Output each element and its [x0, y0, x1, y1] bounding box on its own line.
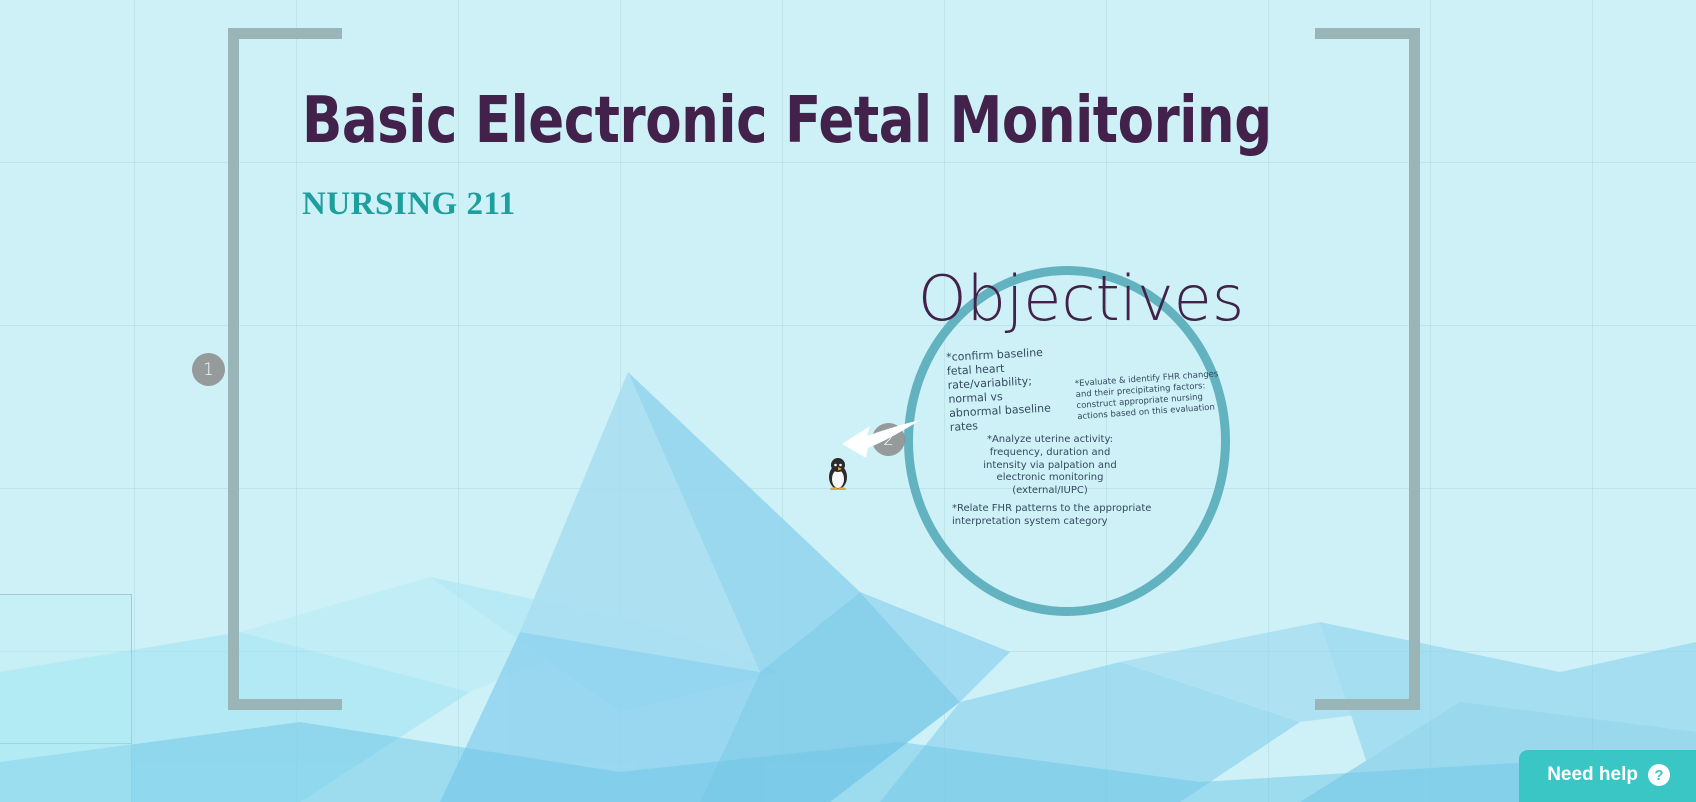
page-title: Basic Electronic Fetal Monitoring: [302, 88, 1272, 156]
list-item: termittent FHR: [0, 698, 117, 710]
need-help-button[interactable]: Need help ?: [1519, 750, 1696, 802]
list-item: the contraction: [0, 676, 117, 688]
list-item: s Continuous FHR: [0, 607, 117, 619]
spacer: [0, 712, 117, 721]
objectives-circle-frame[interactable]: Objectives *confirm baseline fetal heart…: [898, 258, 1244, 630]
objectives-heading: Objectives: [916, 268, 1246, 330]
path-marker-1[interactable]: 1: [192, 353, 225, 386]
list-item: ring:: [0, 634, 117, 646]
divider: [0, 743, 131, 744]
prezi-canvas[interactable]: Basic Electronic Fetal Monitoring NURSIN…: [0, 0, 1696, 802]
spacer: [0, 689, 117, 698]
list-item: RING contraction and: [0, 662, 117, 674]
list-item: ine: [0, 648, 117, 660]
page-subtitle: NURSING 211: [302, 186, 516, 223]
list-item: ng: [0, 721, 117, 733]
question-mark-icon: ?: [1648, 764, 1670, 786]
objective-item-3: *Analyze uterine activity: frequency, du…: [970, 434, 1130, 498]
previous-slide-thumbnail[interactable]: s Continuous FHR oring ring: ine RING co…: [0, 594, 132, 802]
list-item: oring: [0, 621, 117, 633]
objective-item-4: *Relate FHR patterns to the appropriate …: [952, 503, 1182, 529]
list-item: a 10 minute: [0, 735, 117, 747]
need-help-label: Need help: [1547, 764, 1638, 786]
objective-item-1: *confirm baseline fetal heart rate/varia…: [946, 345, 1060, 435]
pointer-arrow-icon: [840, 418, 922, 464]
